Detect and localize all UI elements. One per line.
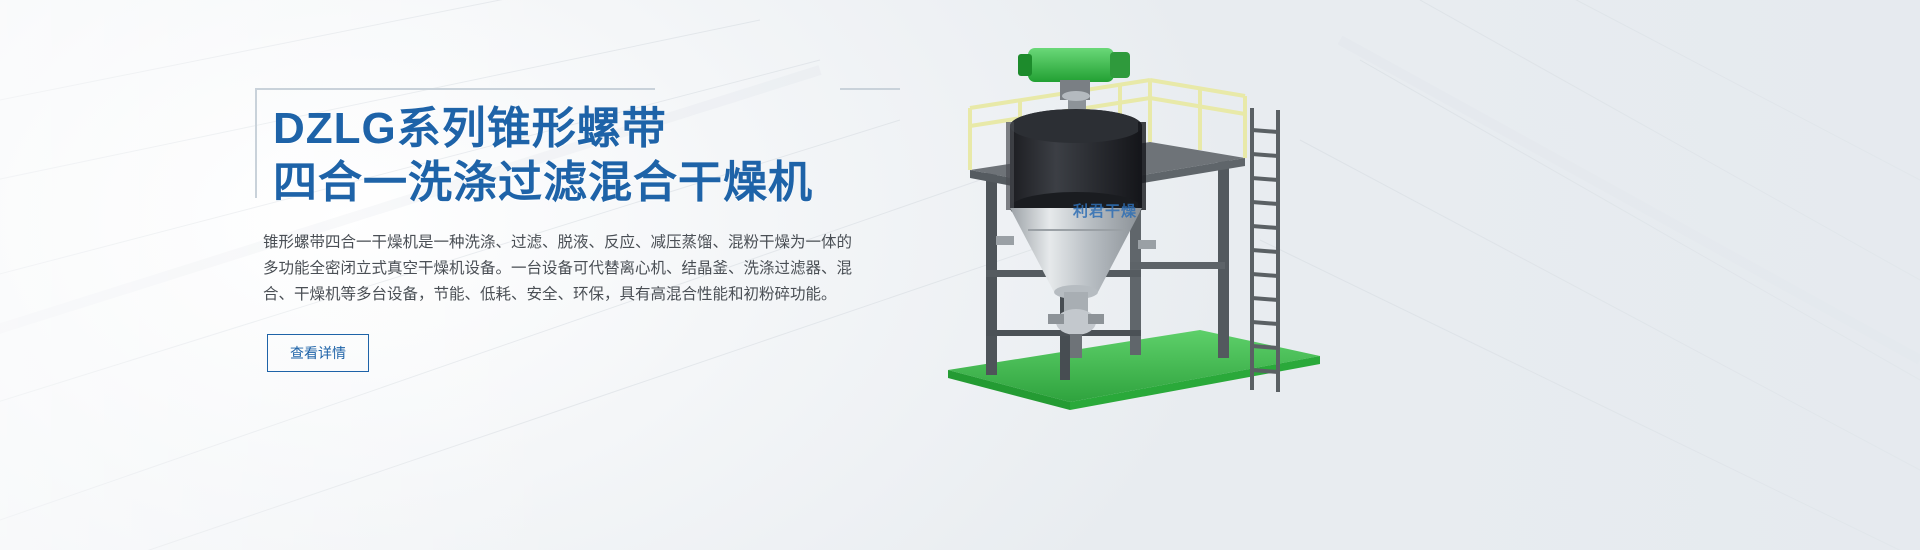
title-line-1: DZLG系列锥形螺带 [273, 104, 667, 153]
description-line-3: 合、干燥机等多台设备，节能、低耗、安全、环保，具有高混合性能和初粉碎功能。 [263, 282, 863, 308]
image-watermark: 利君干燥 [1073, 200, 1137, 221]
hero-content: DZLG系列锥形螺带 四合一洗涤过滤混合干燥机 锥形螺带四合一干燥机是一种洗涤、… [255, 88, 875, 372]
description-line-1: 锥形螺带四合一干燥机是一种洗涤、过滤、脱液、反应、减压蒸馏、混粉干燥为一体的 [263, 230, 863, 256]
frame-top-rule [255, 88, 655, 90]
title-line-2: 四合一洗涤过滤混合干燥机 [273, 156, 875, 210]
product-description: 锥形螺带四合一干燥机是一种洗涤、过滤、脱液、反应、减压蒸馏、混粉干燥为一体的 多… [263, 230, 863, 308]
page-title: DZLG系列锥形螺带 四合一洗涤过滤混合干燥机 [273, 102, 875, 210]
description-line-2: 多功能全密闭立式真空干燥机设备。一台设备可代替离心机、结晶釜、洗涤过滤器、混 [263, 256, 863, 282]
product-illustration: 利君干燥 [900, 30, 1380, 430]
hero-banner: DZLG系列锥形螺带 四合一洗涤过滤混合干燥机 锥形螺带四合一干燥机是一种洗涤、… [0, 0, 1920, 550]
frame-left-rule [255, 88, 257, 198]
conical-bottom [1010, 208, 1142, 299]
view-details-button[interactable]: 查看详情 [267, 334, 369, 372]
title-frame: DZLG系列锥形螺带 四合一洗涤过滤混合干燥机 [255, 88, 875, 214]
frame-top-rule-secondary [840, 88, 900, 90]
